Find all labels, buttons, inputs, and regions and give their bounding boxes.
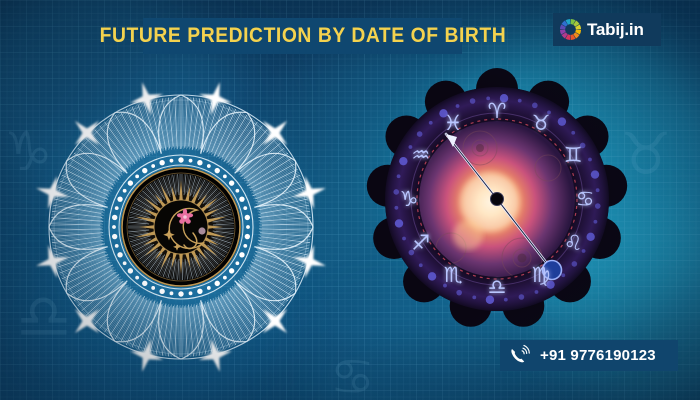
phone-number: +91 9776190123 xyxy=(540,347,656,364)
zodiac-glyph-sagittarius: ♐ xyxy=(411,231,430,255)
zodiac-glyph-libra: ♎ xyxy=(488,275,507,299)
zodiac-glyph-aquarius: ♒ xyxy=(411,143,430,167)
zodiac-glyph-scorpio: ♏ xyxy=(444,263,463,287)
zodiac-glyph-cancer: ♋ xyxy=(576,187,595,211)
zodiac-glyph-capricorn: ♑ xyxy=(400,187,419,211)
color-wheel-ring-icon xyxy=(559,18,582,41)
zodiac-clock-wheel-artwork: ♈♉♊♋♌♍♎♏♐♑♒♓ xyxy=(372,72,622,327)
zodiac-glyph-aries: ♈ xyxy=(488,99,507,123)
astrology-promo-banner: ♎ ♑ ♉ ♋ xyxy=(0,0,700,400)
mandala-sun-moon-artwork xyxy=(16,62,346,392)
zodiac-glyph-virgo: ♍ xyxy=(532,263,551,287)
zodiac-glyph-pisces: ♓ xyxy=(444,111,463,135)
zodiac-glyph-leo: ♌ xyxy=(564,231,583,255)
ringing-phone-icon xyxy=(509,345,533,367)
page-title: FUTURE PREDICTION BY DATE OF BIRTH xyxy=(99,24,506,48)
title-banner: FUTURE PREDICTION BY DATE OF BIRTH xyxy=(143,18,462,54)
brand-name: Tabij.in xyxy=(587,20,644,40)
zodiac-glyph-gemini: ♊ xyxy=(564,143,583,167)
taurus-watermark: ♉ xyxy=(620,120,672,188)
zodiac-glyph-taurus: ♉ xyxy=(532,111,551,135)
brand-logo[interactable]: Tabij.in xyxy=(553,13,661,46)
contact-banner[interactable]: +91 9776190123 xyxy=(500,340,678,371)
